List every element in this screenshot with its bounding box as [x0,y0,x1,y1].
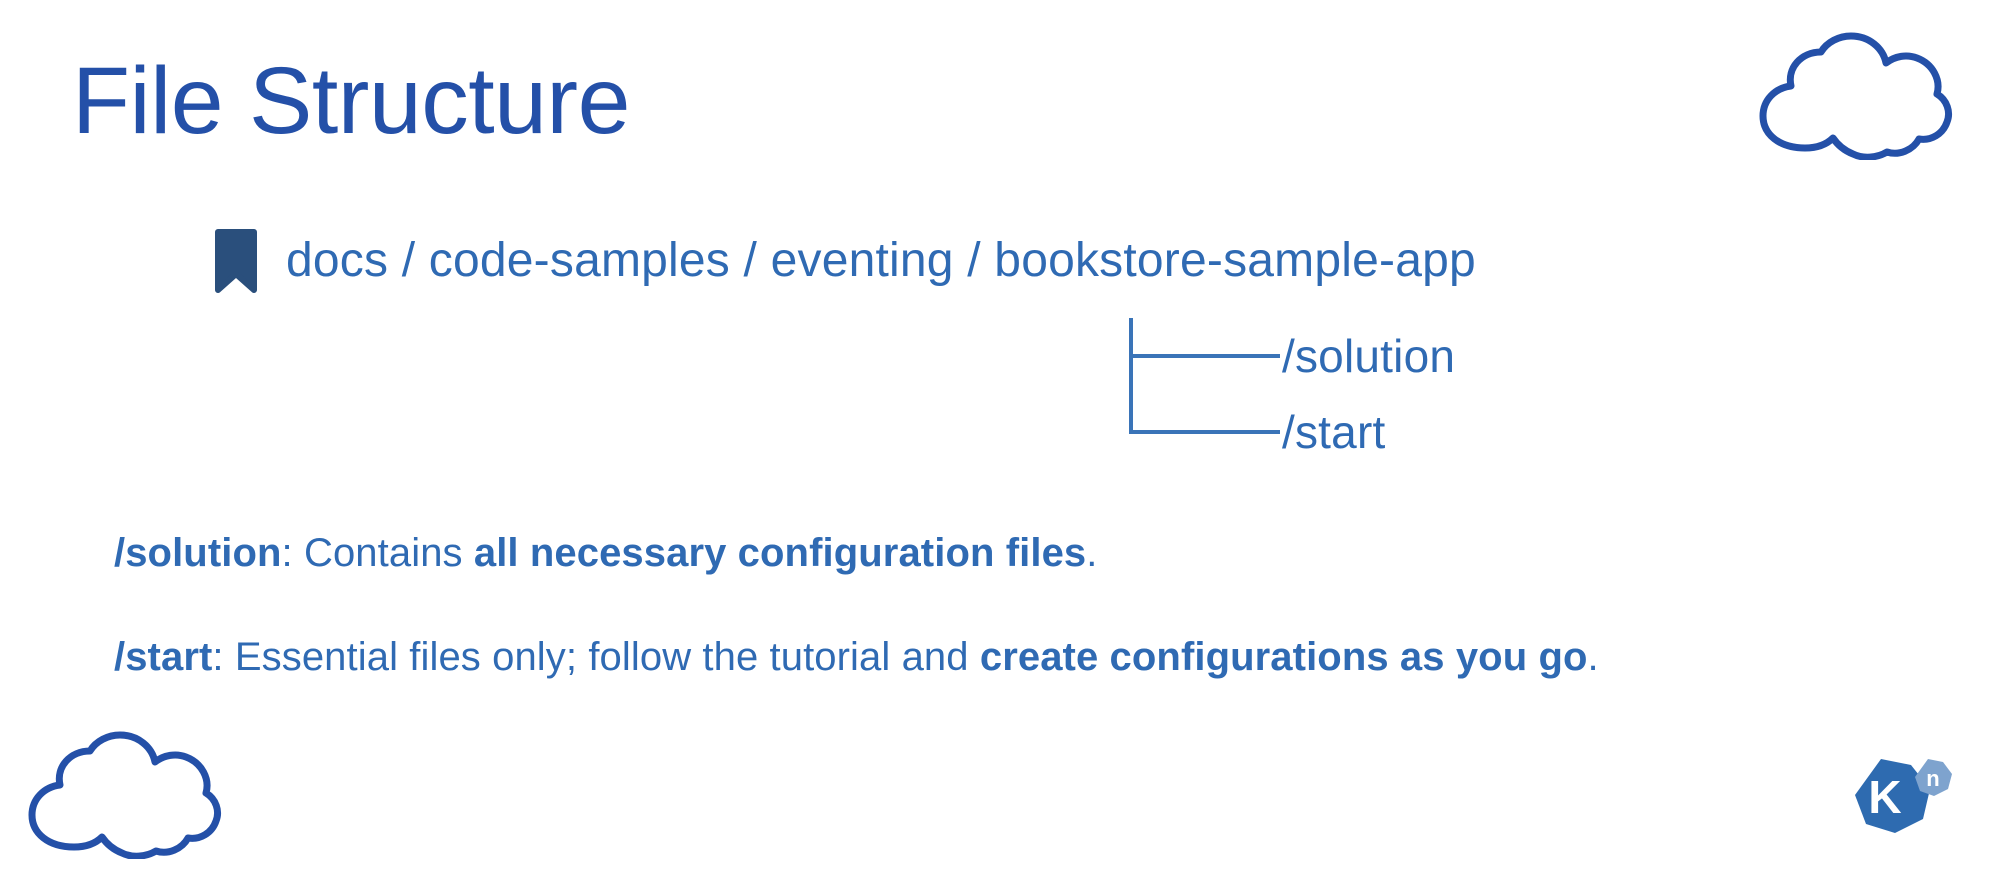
description-middle: : Essential files only; follow the tutor… [212,635,979,679]
tree-item-solution: /solution [1128,318,1455,394]
tree-item-label: /solution [1282,318,1455,394]
tree-item-start: /start [1128,394,1455,470]
knative-letter-k: K [1868,771,1901,823]
description-start: /start: Essential files only; follow the… [114,633,1599,681]
description-emphasis: create configurations as you go [980,635,1588,679]
tree-item-label: /start [1282,394,1385,470]
cloud-icon [16,727,228,859]
description-tail: . [1086,531,1097,575]
description-solution: /solution: Contains all necessary config… [114,529,1097,577]
breadcrumb: docs / code-samples / eventing / booksto… [214,228,1476,294]
knative-letter-n: n [1926,766,1939,791]
description-term: /solution [114,531,282,575]
description-emphasis: all necessary configuration files [474,531,1086,575]
description-middle: : Contains [282,531,474,575]
description-term: /start [114,635,212,679]
knative-logo: K n [1833,753,1957,857]
page-title: File Structure [72,52,630,152]
directory-tree: /solution /start [1128,318,1455,470]
description-tail: . [1588,635,1599,679]
cloud-icon [1747,28,1959,160]
tree-branch-tee-icon [1128,318,1280,394]
tree-branch-ell-icon [1128,394,1280,470]
bookmark-icon [214,228,258,294]
slide-canvas: File Structure docs / code-samples / eve… [0,0,1999,877]
breadcrumb-path: docs / code-samples / eventing / booksto… [286,237,1476,285]
